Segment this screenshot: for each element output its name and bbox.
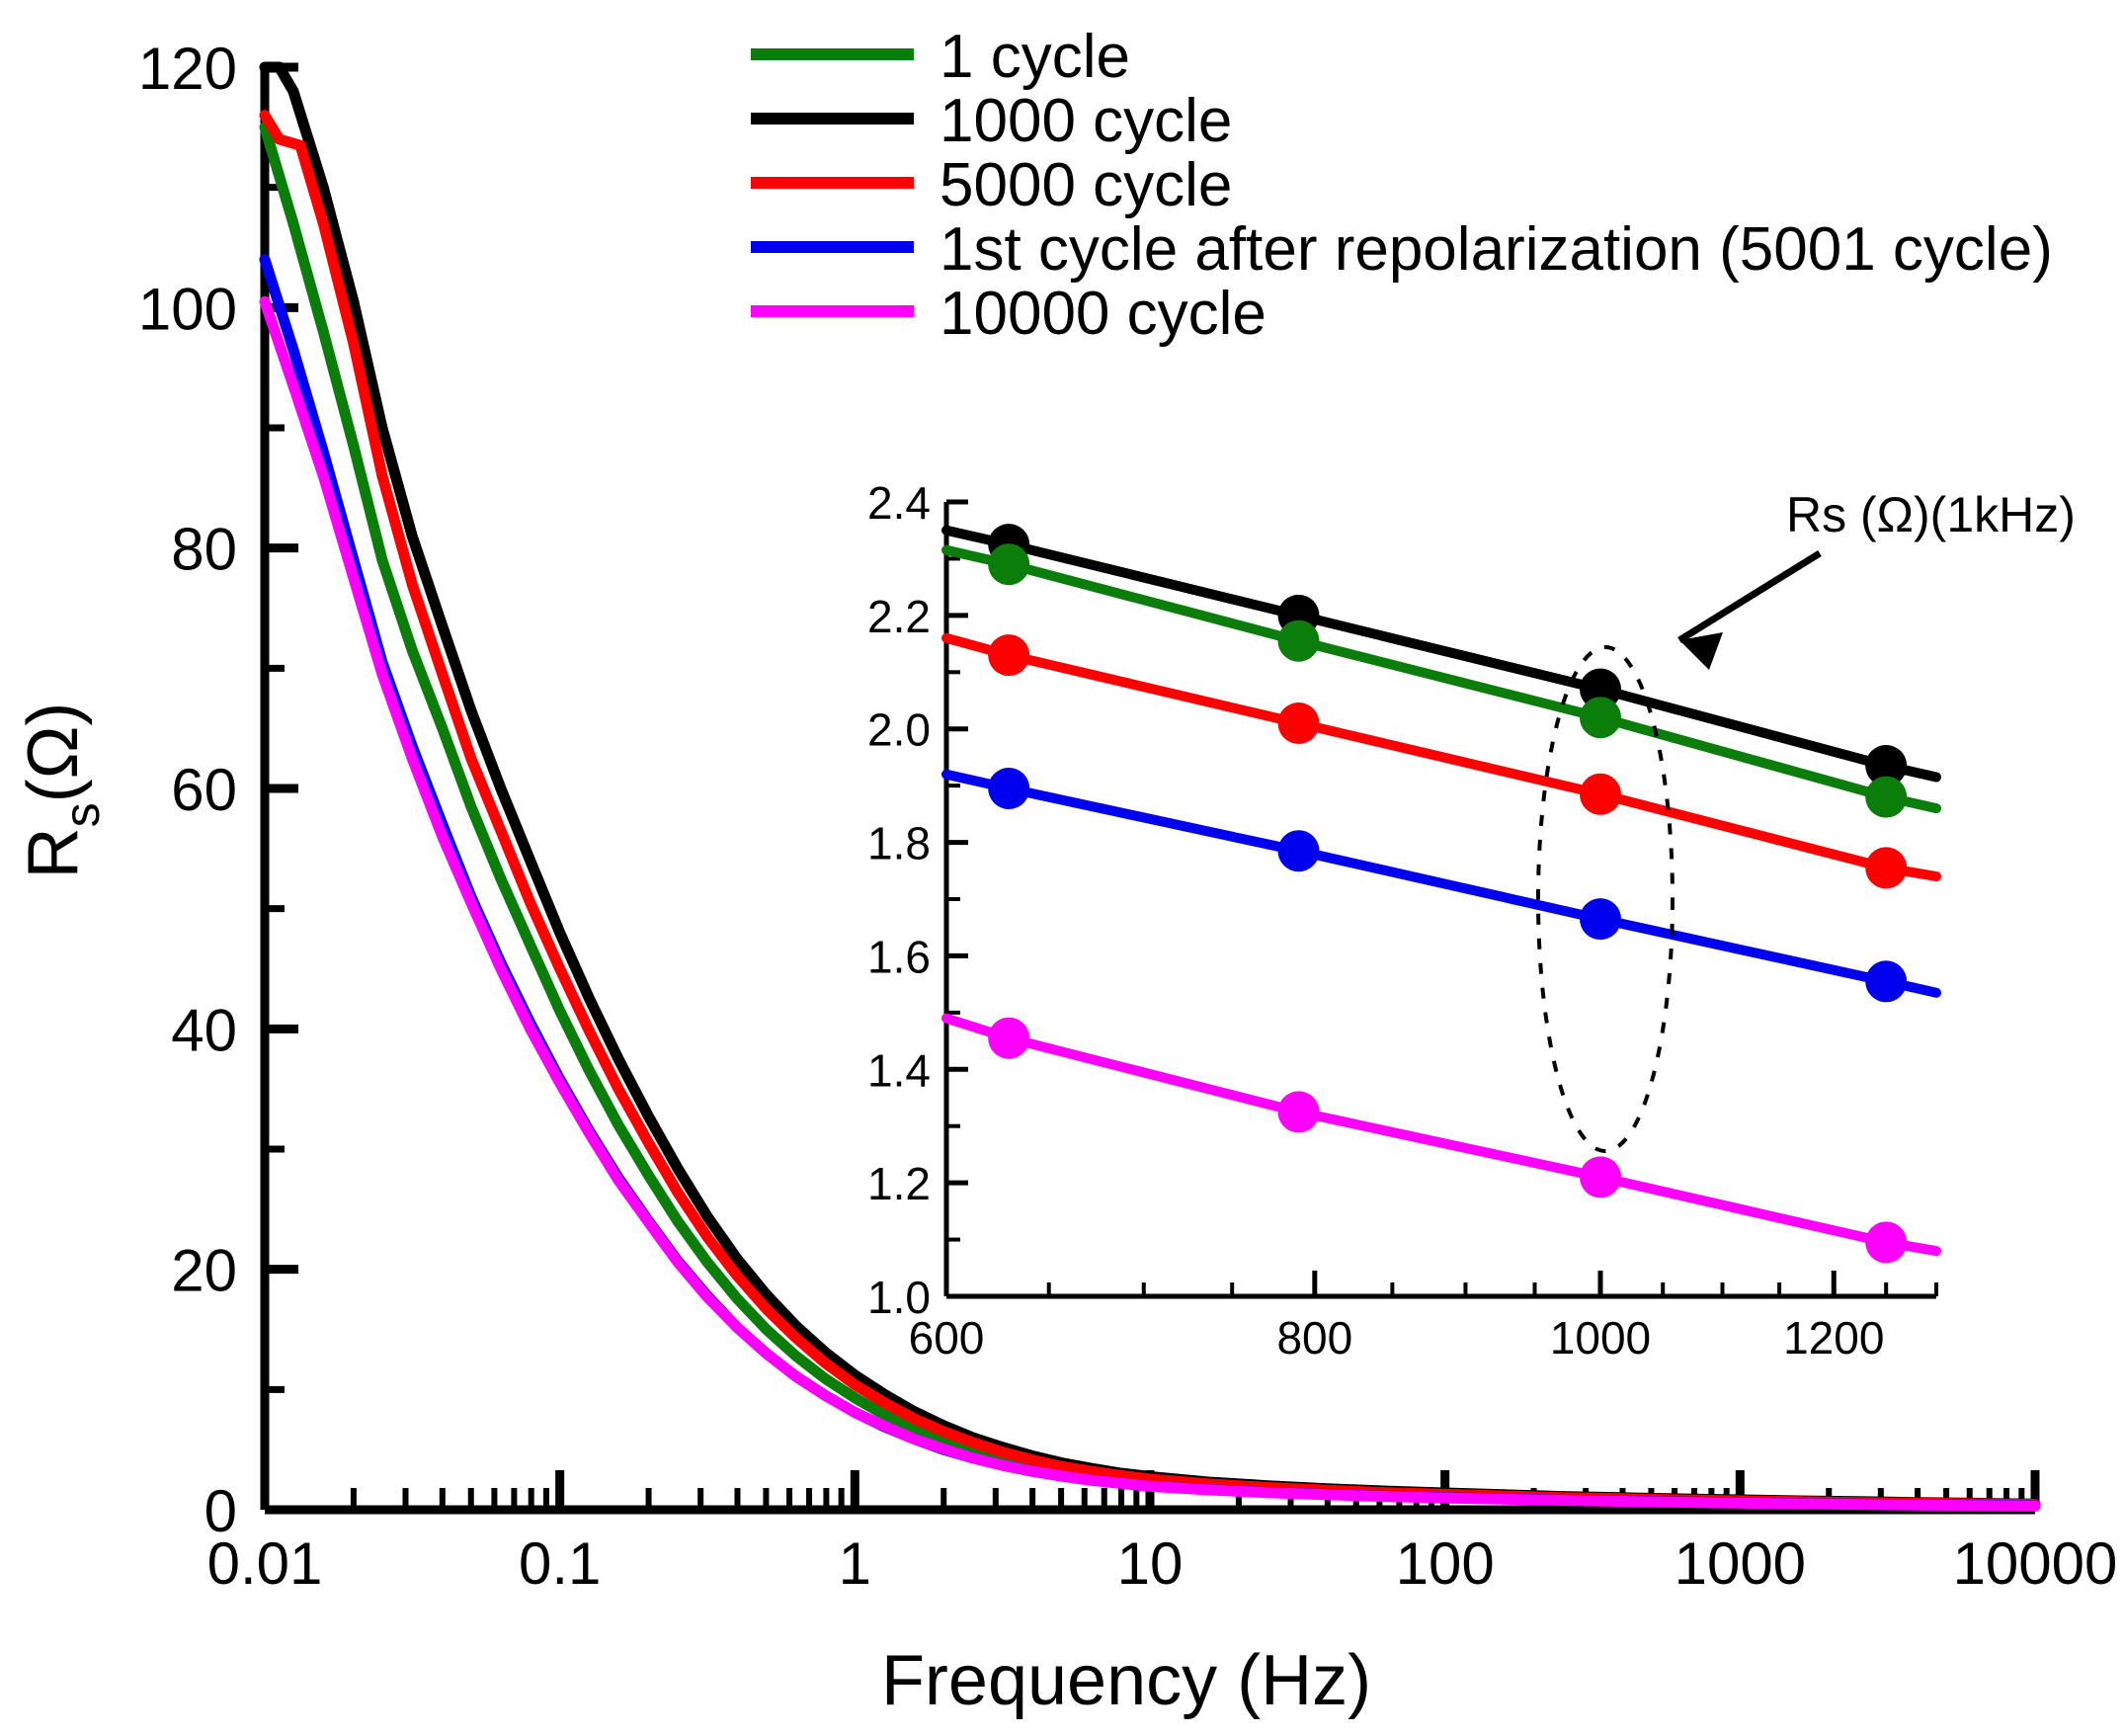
inset-y-tick-labels: 1.01.21.41.61.82.02.22.4 bbox=[867, 477, 931, 1323]
main-y-tick-label: 100 bbox=[138, 276, 237, 342]
main-y-tick-label: 20 bbox=[171, 1238, 237, 1304]
inset-data-point bbox=[1865, 960, 1907, 1002]
inset-y-tick-label: 1.6 bbox=[867, 931, 931, 982]
annotation-label-rs-1khz: Rs (Ω)(1kHz) bbox=[1786, 487, 2076, 542]
inset-series-line bbox=[946, 775, 1936, 993]
inset-x-tick-label: 600 bbox=[909, 1312, 985, 1364]
main-y-tick-label: 80 bbox=[171, 517, 237, 583]
main-x-tick-label: 0.01 bbox=[207, 1530, 323, 1597]
inset-data-point bbox=[1865, 777, 1907, 818]
inset-x-tick-label: 800 bbox=[1276, 1312, 1352, 1364]
inset-data-point bbox=[1278, 830, 1320, 871]
inset-data-point bbox=[1865, 847, 1907, 888]
inset-data-point bbox=[988, 768, 1029, 809]
inset-y-tick-label: 1.8 bbox=[867, 818, 931, 869]
inset-series-line bbox=[946, 1019, 1936, 1252]
inset-y-tick-label: 1.4 bbox=[867, 1044, 931, 1096]
y-title-ohm: (Ω) bbox=[14, 703, 93, 803]
inset-y-tick-label: 2.0 bbox=[867, 704, 931, 756]
chart-figure: 020406080100120 0.010.1110100100010000 R… bbox=[0, 0, 2124, 1736]
inset-data-point bbox=[988, 543, 1029, 585]
inset-data-point bbox=[988, 634, 1029, 676]
main-x-tick-label: 0.1 bbox=[519, 1530, 601, 1597]
svg-text:Rs(Ω): Rs(Ω) bbox=[14, 703, 110, 879]
inset-series-group bbox=[946, 524, 1936, 1263]
main-y-tick-labels: 020406080100120 bbox=[138, 36, 237, 1544]
inset-y-tick-label: 1.2 bbox=[867, 1158, 931, 1209]
inset-data-point bbox=[1278, 1091, 1320, 1132]
legend-label-0: 1 cycle bbox=[939, 23, 1130, 91]
inset-x-tick-labels: 60080010001200 bbox=[909, 1312, 1885, 1364]
main-x-tick-label: 10000 bbox=[1953, 1530, 2118, 1597]
main-y-tick-label: 60 bbox=[171, 757, 237, 823]
x-axis-title: Frequency (Hz) bbox=[881, 1641, 1371, 1720]
inset-x-tick-label: 1200 bbox=[1783, 1312, 1884, 1364]
inset-x-tick-label: 1000 bbox=[1550, 1312, 1651, 1364]
legend: 1 cycle1000 cycle5000 cycle1st cycle aft… bbox=[751, 23, 2053, 348]
main-x-tick-label: 10 bbox=[1117, 1530, 1184, 1597]
inset-data-point bbox=[988, 1018, 1029, 1059]
inset-data-point bbox=[1580, 697, 1621, 738]
y-title-sub-s: s bbox=[54, 802, 110, 827]
inset-data-point bbox=[1580, 898, 1621, 940]
inset-data-point bbox=[1278, 703, 1320, 744]
main-x-tick-label: 1000 bbox=[1675, 1530, 1806, 1597]
impedance-frequency-chart: 020406080100120 0.010.1110100100010000 R… bbox=[0, 0, 2124, 1736]
inset-y-tick-label: 2.4 bbox=[867, 477, 931, 529]
inset-y-ticks bbox=[946, 502, 968, 1296]
inset-x-ticks bbox=[946, 1271, 1936, 1296]
inset-y-tick-label: 2.2 bbox=[867, 591, 931, 642]
inset-plot: 1.01.21.41.61.82.02.22.4 60080010001200 … bbox=[867, 477, 2076, 1364]
main-series-line bbox=[265, 260, 2035, 1506]
annotation-arrow bbox=[1679, 553, 1820, 670]
inset-data-point bbox=[1580, 774, 1621, 815]
inset-data-point bbox=[1278, 620, 1320, 662]
inset-series-line bbox=[946, 531, 1936, 778]
legend-label-4: 10000 cycle bbox=[939, 280, 1266, 348]
main-x-tick-label: 1 bbox=[839, 1530, 871, 1597]
y-title-R: R bbox=[14, 827, 93, 878]
y-axis-title: Rs(Ω) bbox=[14, 703, 110, 879]
main-y-tick-label: 40 bbox=[171, 997, 237, 1063]
inset-data-point bbox=[1865, 1221, 1907, 1263]
legend-label-2: 5000 cycle bbox=[939, 151, 1232, 219]
main-x-tick-labels: 0.010.1110100100010000 bbox=[207, 1530, 2118, 1597]
main-x-tick-label: 100 bbox=[1396, 1530, 1495, 1597]
legend-label-3: 1st cycle after repolarization (5001 cyc… bbox=[939, 215, 2053, 284]
inset-data-point bbox=[1580, 1156, 1621, 1198]
main-y-tick-label: 120 bbox=[138, 36, 237, 102]
legend-label-1: 1000 cycle bbox=[939, 87, 1232, 155]
